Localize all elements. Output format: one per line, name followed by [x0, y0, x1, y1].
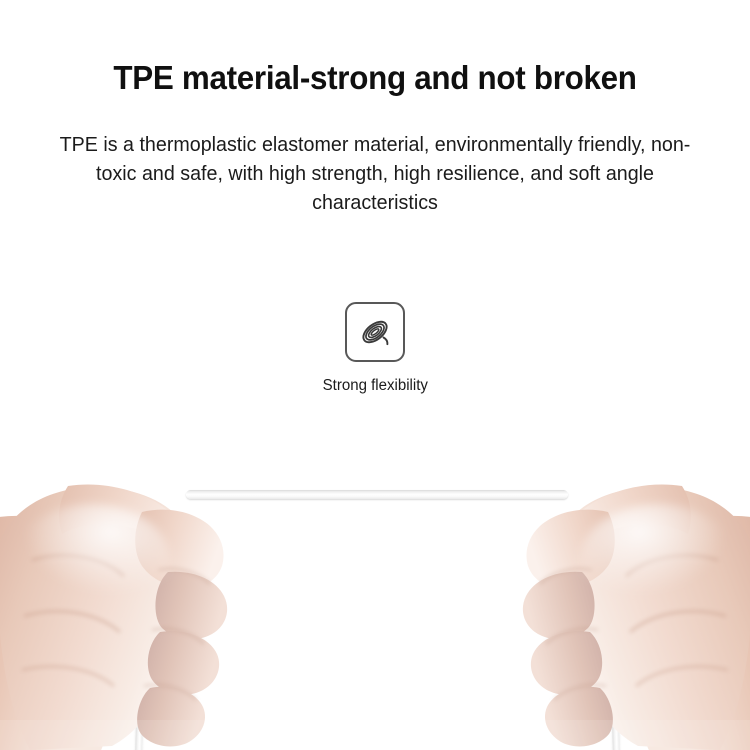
feature-label: Strong flexibility — [322, 376, 427, 395]
description-text: TPE is a thermoplastic elastomer materia… — [51, 130, 700, 217]
page-title: TPE material-strong and not broken — [19, 58, 732, 98]
left-hand — [0, 420, 257, 750]
stretched-cable — [186, 490, 568, 499]
product-feature-page: TPE material-strong and not broken TPE i… — [0, 0, 750, 750]
coiled-cable-icon — [345, 302, 405, 362]
right-hand — [493, 420, 750, 750]
hands-stretching-cable-photo — [0, 420, 750, 750]
feature-badge: Strong flexibility — [0, 302, 750, 395]
